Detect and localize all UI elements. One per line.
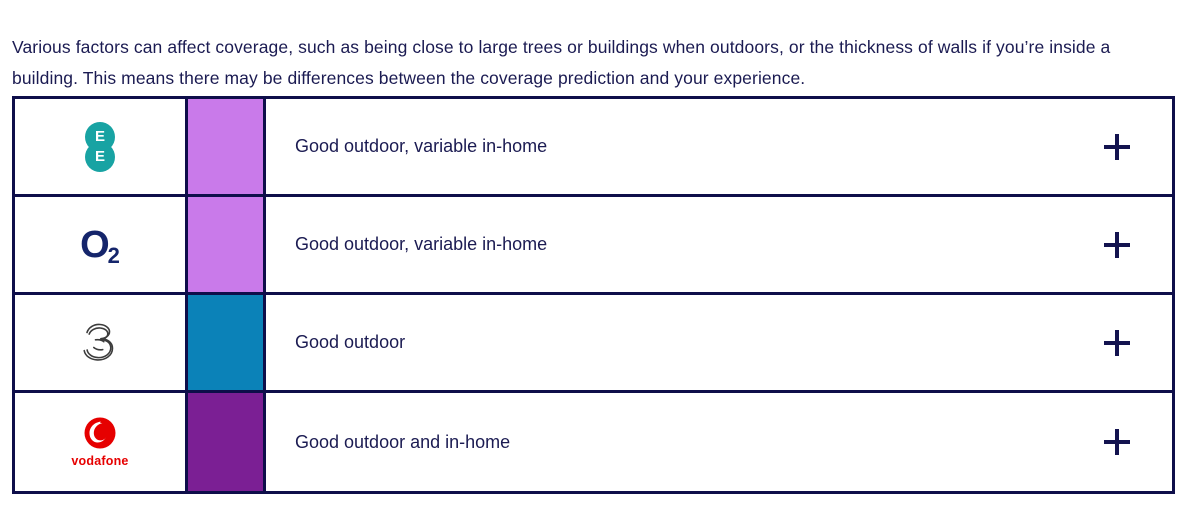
operator-logo-cell-three (15, 295, 185, 390)
coverage-description: Good outdoor, variable in-home (266, 99, 1062, 194)
coverage-disclaimer-text: Various factors can affect coverage, suc… (12, 32, 1174, 94)
table-row[interactable]: Good outdoor (15, 295, 1172, 393)
plus-icon[interactable] (1104, 330, 1130, 356)
expand-row-button-three[interactable] (1062, 295, 1172, 390)
expand-row-button-ee[interactable] (1062, 99, 1172, 194)
vodafone-speechmark-icon (83, 416, 117, 450)
expand-row-button-vodafone[interactable] (1062, 393, 1172, 491)
coverage-description: Good outdoor (266, 295, 1062, 390)
coverage-swatch-light-purple (185, 197, 266, 292)
table-row[interactable]: O2 Good outdoor, variable in-home (15, 197, 1172, 295)
coverage-results-table: E E Good outdoor, variable in-home O2 Go… (12, 96, 1175, 494)
three-logo-icon (80, 320, 120, 366)
table-row[interactable]: E E Good outdoor, variable in-home (15, 99, 1172, 197)
o2-logo-icon: O2 (80, 226, 120, 264)
plus-icon[interactable] (1104, 232, 1130, 258)
coverage-description: Good outdoor, variable in-home (266, 197, 1062, 292)
operator-logo-cell-ee: E E (15, 99, 185, 194)
coverage-description: Good outdoor and in-home (266, 393, 1062, 491)
operator-logo-cell-vodafone: vodafone (15, 393, 185, 491)
o2-logo-letter: O (80, 224, 109, 266)
plus-icon[interactable] (1104, 134, 1130, 160)
coverage-swatch-dark-purple (185, 393, 266, 491)
table-row[interactable]: vodafone Good outdoor and in-home (15, 393, 1172, 491)
ee-logo-icon: E E (85, 122, 115, 172)
vodafone-wordmark: vodafone (71, 455, 128, 468)
coverage-swatch-blue (185, 295, 266, 390)
o2-logo-subscript: 2 (108, 243, 119, 268)
ee-logo-letter-bottom: E (85, 142, 115, 172)
expand-row-button-o2[interactable] (1062, 197, 1172, 292)
vodafone-logo-icon: vodafone (71, 416, 128, 468)
plus-icon[interactable] (1104, 429, 1130, 455)
coverage-swatch-light-purple (185, 99, 266, 194)
operator-logo-cell-o2: O2 (15, 197, 185, 292)
